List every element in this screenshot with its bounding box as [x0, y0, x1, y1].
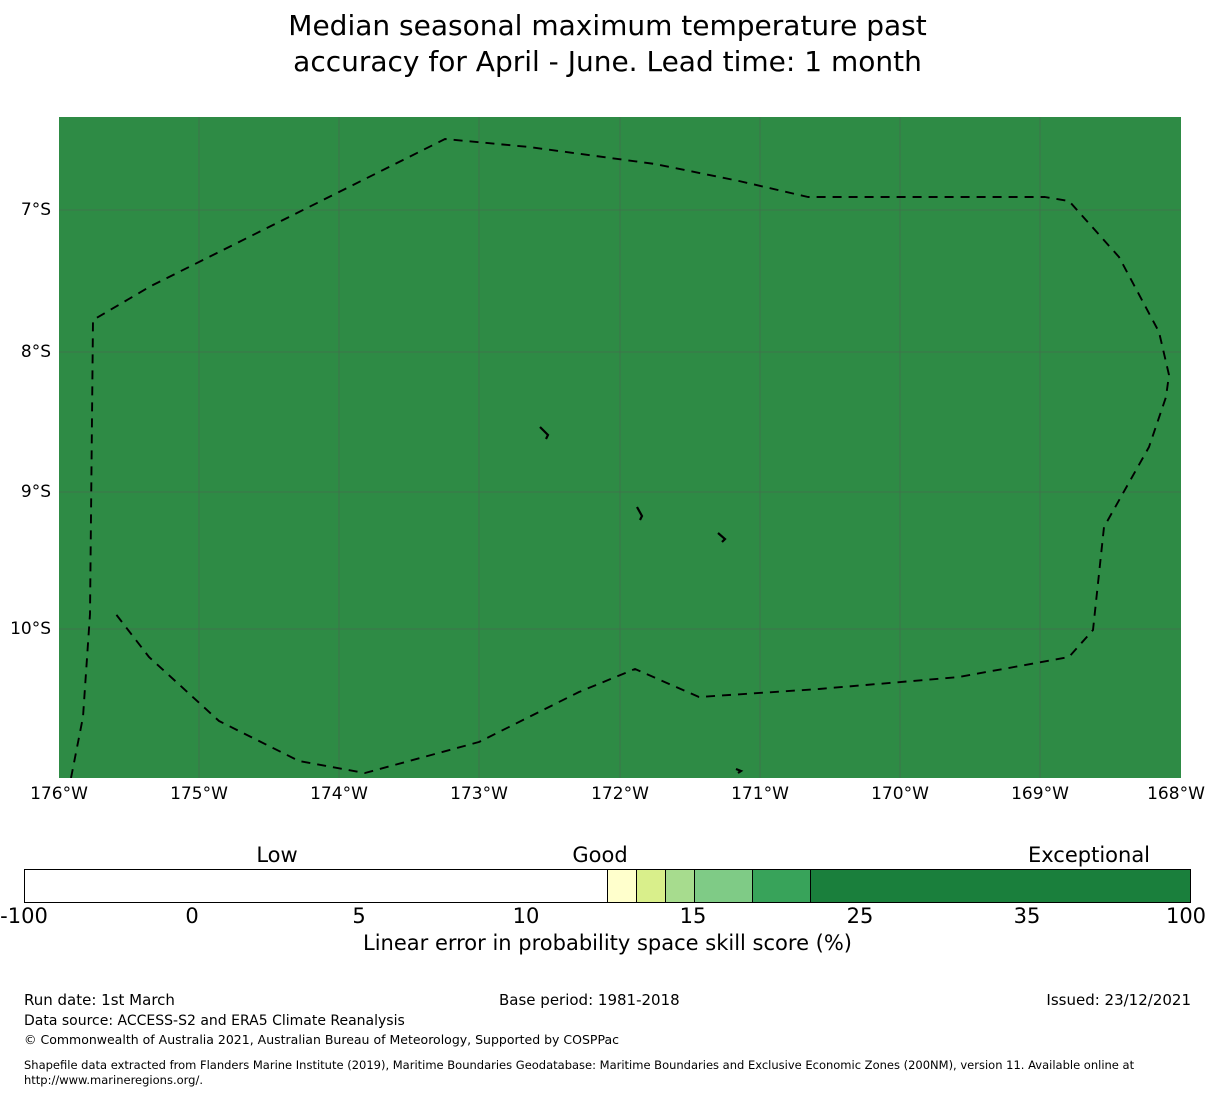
x-axis-tick: 170°W — [871, 786, 929, 803]
x-axis-tick: 175°W — [170, 786, 228, 803]
x-axis-tick: 172°W — [591, 786, 649, 803]
colorbar-segment-35-to-100 — [811, 870, 1190, 902]
x-axis-tick: 174°W — [310, 786, 368, 803]
y-axis-tick: 9°S — [21, 484, 51, 501]
y-axis-tick: 10°S — [10, 621, 51, 638]
colorbar-tick: 15 — [680, 906, 707, 927]
colorbar-axis-label: Linear error in probability space skill … — [0, 931, 1215, 955]
colorbar-tick: 25 — [847, 906, 874, 927]
shapefile-credit-text: Shapefile data extracted from Flanders M… — [24, 1058, 1199, 1088]
colorbar-category-exceptional: Exceptional — [1028, 845, 1150, 866]
copyright-text: © Commonwealth of Australia 2021, Austra… — [24, 1032, 619, 1048]
colorbar-tick: -100 — [0, 906, 48, 927]
y-axis-tick: 7°S — [21, 202, 51, 219]
colorbar-tick: 35 — [1014, 906, 1041, 927]
colorbar-segment-25-to-35 — [753, 870, 811, 902]
map-canvas — [59, 117, 1181, 778]
x-axis-tick: 171°W — [731, 786, 789, 803]
x-axis-tick: 168°W — [1147, 786, 1205, 803]
x-axis-tick: 176°W — [30, 786, 88, 803]
issued-date-text: Issued: 23/12/2021 — [1046, 991, 1191, 1009]
colorbar-segment-0-to-5 — [608, 870, 637, 902]
colorbar-segment-10-to-15 — [666, 870, 695, 902]
data-source-text: Data source: ACCESS-S2 and ERA5 Climate … — [24, 1013, 405, 1030]
colorbar-category-low: Low — [256, 845, 297, 866]
map-plot-area — [59, 117, 1181, 778]
colorbar — [24, 869, 1191, 903]
colorbar-segment-15-to-25 — [695, 870, 753, 902]
colorbar-tick: 10 — [513, 906, 540, 927]
x-axis-tick: 173°W — [450, 786, 508, 803]
colorbar-category-good: Good — [572, 845, 627, 866]
colorbar-tick: 0 — [185, 906, 198, 927]
colorbar-tick: 100 — [1166, 906, 1206, 927]
x-axis-tick: 169°W — [1011, 786, 1069, 803]
colorbar-gradient — [24, 869, 1191, 903]
footer-meta-row: Run date: 1st March Base period: 1981-20… — [24, 991, 1191, 1009]
colorbar-segment-5-to-10 — [637, 870, 666, 902]
colorbar-segment--100-to-0 — [25, 870, 608, 902]
page-title: Median seasonal maximum temperature past… — [0, 8, 1215, 80]
base-period-text: Base period: 1981-2018 — [499, 991, 680, 1009]
run-date-text: Run date: 1st March — [24, 991, 175, 1009]
colorbar-tick: 5 — [352, 906, 365, 927]
y-axis-tick: 8°S — [21, 344, 51, 361]
